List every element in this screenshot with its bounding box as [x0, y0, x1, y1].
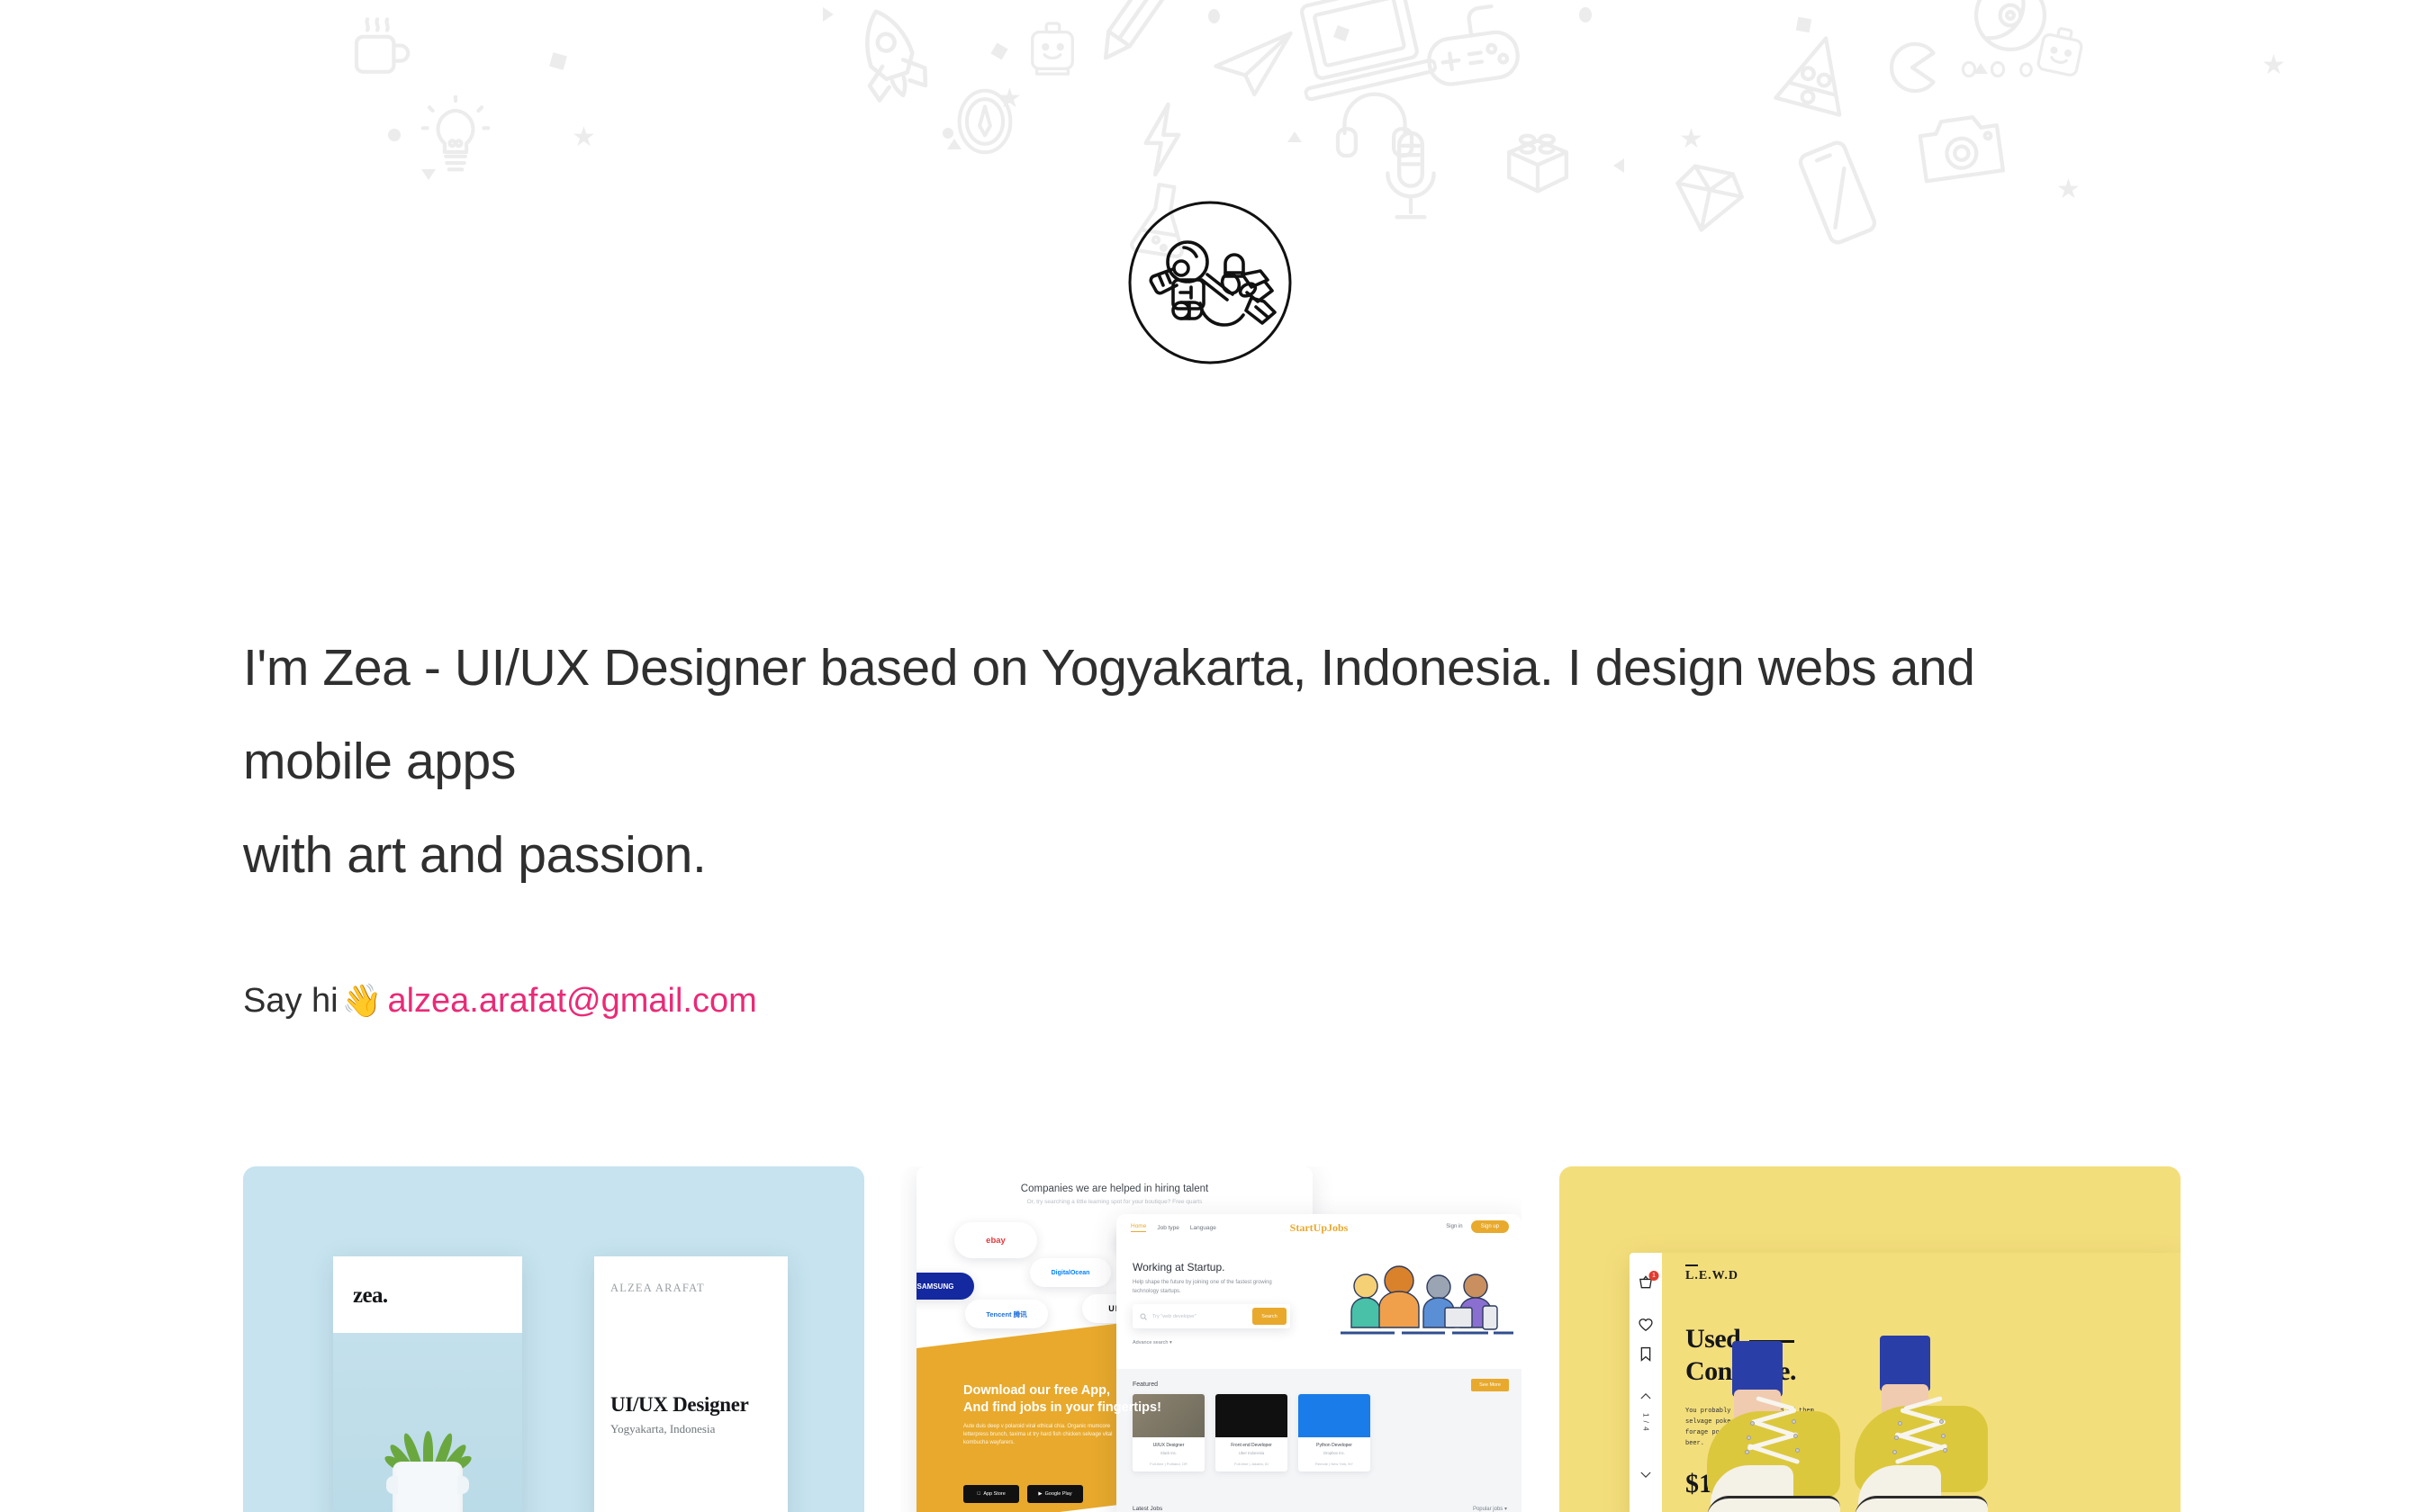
basket-icon[interactable]: 1 — [1639, 1274, 1654, 1294]
job-thumbnail — [1298, 1394, 1370, 1437]
app-store-badge[interactable]: App Store — [963, 1485, 1019, 1503]
app-nav-right: Sign in Sign up — [1446, 1220, 1509, 1233]
logo-pill-digitalocean: DigitalOcean — [1030, 1258, 1111, 1287]
square-icon — [1333, 25, 1350, 41]
contact-line: Say hi👋alzea.arafat@gmail.com — [243, 979, 757, 1022]
search-button[interactable]: Search — [1252, 1308, 1287, 1325]
waving-hand-icon: 👋 — [342, 982, 383, 1019]
converse-shoe-right — [1855, 1336, 1988, 1512]
paper-plane-icon — [1211, 29, 1296, 99]
google-play-badge[interactable]: ▶Google Play — [1027, 1485, 1083, 1503]
dot-icon — [388, 129, 401, 141]
logo-pill-ebay: ebay — [954, 1222, 1037, 1258]
job-thumbnail — [1215, 1394, 1287, 1437]
star-icon: ★ — [2262, 52, 2286, 79]
laptop-icon — [1284, 0, 1440, 113]
logo-pill-tencent: Tencent 腾讯 — [965, 1300, 1048, 1328]
gamepad-icon — [1417, 0, 1529, 96]
camera-icon — [1913, 104, 2009, 192]
lego-brick-icon — [1502, 122, 1574, 198]
square-icon — [1796, 17, 1811, 32]
startupjobs-brand: StartUpJobs — [1290, 1221, 1349, 1235]
nav-item-language[interactable]: Language — [1190, 1225, 1216, 1231]
search-placeholder: Try "web developer" — [1152, 1314, 1196, 1319]
nav-item-jobtype[interactable]: Job type — [1157, 1225, 1179, 1231]
hero-section: I'm Zea - UI/UX Designer based on Yogyak… — [243, 621, 2134, 902]
dot-icon — [1579, 7, 1592, 22]
job-company: Dropbox Inc. — [1298, 1451, 1370, 1455]
sign-up-button[interactable]: Sign up — [1471, 1220, 1509, 1233]
diamond-icon — [1666, 154, 1750, 244]
star-icon: ★ — [2056, 176, 2081, 203]
chevron-down-icon[interactable] — [1640, 1467, 1651, 1483]
business-card-front: zea. — [333, 1256, 522, 1512]
dot-icon — [1208, 9, 1220, 23]
triangle-icon — [1613, 158, 1624, 173]
contact-prefix: Say hi — [243, 982, 339, 1020]
cart-count-badge: 1 — [1649, 1271, 1659, 1281]
promo-line-1: Download our free App, — [963, 1382, 1161, 1399]
lightbulb-icon — [421, 95, 490, 178]
heart-icon[interactable] — [1639, 1318, 1654, 1336]
business-card-location: Yogyakarta, Indonesia — [610, 1422, 715, 1436]
pencil-icon — [1076, 0, 1184, 81]
promo-body: Aute duis deep v polaroid viral ethical … — [963, 1423, 1125, 1447]
triangle-icon — [1973, 63, 1988, 74]
advance-search-link[interactable]: Advance search ▾ — [1133, 1340, 1172, 1345]
rocket-icon — [832, 0, 951, 123]
app-hero-subtitle: Help shape the future by joining one of … — [1133, 1278, 1295, 1296]
job-company: Slack Inc. — [1133, 1451, 1205, 1455]
latest-jobs-label: Latest Jobs — [1133, 1506, 1162, 1512]
pizza-icon — [1768, 24, 1864, 127]
business-card-role: UI/UX Designer — [610, 1393, 749, 1417]
triangle-icon — [421, 169, 436, 180]
lightning-bolt-icon — [1139, 101, 1186, 178]
star-icon: ★ — [1679, 126, 1703, 153]
logo-pill-samsung: SAMSUNG — [917, 1273, 974, 1300]
business-card-name: ALZEA ARAFAT — [610, 1282, 705, 1295]
chevron-up-icon[interactable] — [1640, 1388, 1651, 1404]
job-search-bar[interactable]: Try "web developer" Search — [1133, 1304, 1290, 1328]
job-title: Front end Developer — [1215, 1443, 1287, 1448]
shop-side-rail: 1 1 / 4 — [1630, 1253, 1662, 1512]
cd-disc-icon — [1972, 0, 2049, 54]
coffee-mug-icon — [347, 13, 417, 83]
job-card[interactable]: Front end Developer Uber Indonesia Full-… — [1215, 1394, 1287, 1471]
app-promo-text: Download our free App, And find jobs in … — [963, 1382, 1161, 1447]
app-page-mockup: Home Job type Language StartUpJobs Sign … — [1116, 1214, 1522, 1512]
portfolio-card-startupjobs[interactable]: Companies we are helped in hiring talent… — [900, 1166, 1522, 1512]
email-link[interactable]: alzea.arafat@gmail.com — [387, 982, 756, 1020]
team-illustration — [1339, 1257, 1514, 1340]
bookmark-icon[interactable] — [1639, 1346, 1652, 1366]
business-card-back: ALZEA ARAFAT UI/UX Designer Yogyakarta, … — [594, 1256, 788, 1512]
popular-jobs-filter[interactable]: Popular jobs ▾ — [1473, 1506, 1507, 1512]
nav-item-home[interactable]: Home — [1131, 1223, 1146, 1232]
job-title: Python Developer — [1298, 1443, 1370, 1448]
companies-heading: Companies we are helped in hiring talent — [917, 1183, 1313, 1194]
converse-shoe-left — [1707, 1341, 1840, 1512]
plant-photo — [333, 1333, 522, 1512]
shop-page-mockup: 1 1 / 4 — [1630, 1253, 2181, 1512]
zea-logo-text: zea. — [353, 1283, 388, 1309]
lewd-brand: L.E.W.D — [1685, 1269, 1738, 1283]
job-card[interactable]: Python Developer Dropbox Inc. Remote | N… — [1298, 1394, 1370, 1471]
portfolio-card-branding[interactable]: zea. ALZEA ARAFAT UI/UX Designer Yogyaka… — [243, 1166, 864, 1512]
triangle-icon — [947, 139, 962, 149]
promo-line-2: And find jobs in your fingertips! — [963, 1399, 1161, 1417]
page-title: I'm Zea - UI/UX Designer based on Yogyak… — [243, 621, 2062, 902]
pacman-pellet-icon — [1961, 61, 1977, 77]
microphone-icon — [1377, 130, 1444, 229]
companies-subheading: Or, try searching a little learning spot… — [917, 1199, 1313, 1205]
portfolio-landing-page: ★ ★ ★ ★ ★ — [0, 0, 2420, 1512]
pacman-pellet-icon — [2018, 62, 2034, 77]
pacman-pellet-icon — [1990, 61, 2006, 77]
job-company: Uber Indonesia — [1215, 1451, 1287, 1455]
lego-head-icon — [2027, 20, 2092, 89]
headphones-icon — [1334, 86, 1415, 160]
square-icon — [990, 42, 1007, 59]
dot-icon — [943, 128, 953, 139]
sign-in-link[interactable]: Sign in — [1446, 1224, 1462, 1229]
star-icon: ★ — [572, 124, 596, 151]
astronaut-logo[interactable] — [1124, 197, 1296, 368]
star-icon: ★ — [998, 85, 1022, 112]
pacman-icon — [1884, 40, 1940, 95]
app-hero-title: Working at Startup. — [1133, 1261, 1225, 1273]
triangle-icon — [823, 7, 834, 22]
square-icon — [549, 52, 567, 70]
portfolio-card-lewd-shop[interactable]: 1 1 / 4 — [1559, 1166, 2181, 1512]
carousel-pager: 1 / 4 — [1642, 1413, 1650, 1432]
job-meta: Full-time | Jakarta, ID — [1215, 1462, 1287, 1466]
compass-icon — [954, 86, 1016, 157]
job-meta: Remote | New York, NY — [1298, 1462, 1370, 1466]
triangle-icon — [1287, 131, 1302, 142]
smartphone-icon — [1791, 135, 1883, 251]
lego-head-icon — [1025, 20, 1080, 81]
store-badges: App Store ▶Google Play — [963, 1485, 1083, 1503]
search-icon — [1140, 1313, 1147, 1320]
job-meta: Full-time | Portland, OR — [1133, 1462, 1205, 1466]
plant-pot — [393, 1462, 463, 1512]
see-more-button[interactable]: See More — [1471, 1379, 1509, 1391]
